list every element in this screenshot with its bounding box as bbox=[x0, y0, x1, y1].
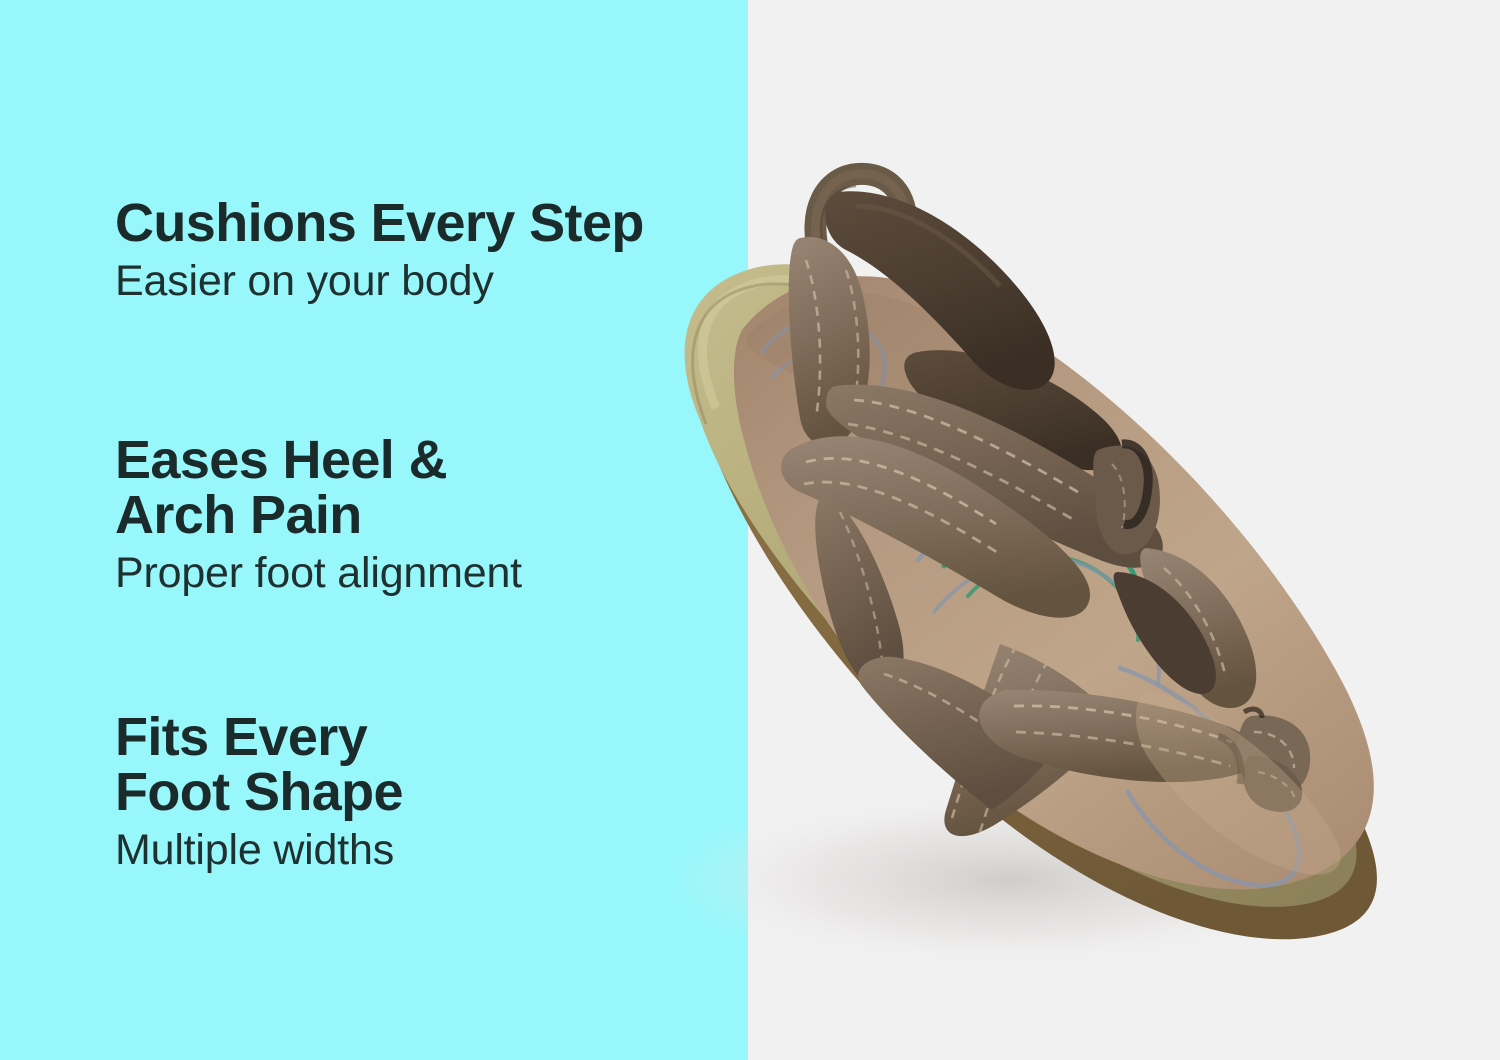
feature-title: Cushions Every Step bbox=[115, 196, 735, 251]
feature-subtitle: Proper foot alignment bbox=[115, 549, 735, 597]
feature-item-eases-heel-arch-pain: Eases Heel & Arch Pain Proper foot align… bbox=[115, 433, 735, 597]
feature-item-fits-every-foot-shape: Fits Every Foot Shape Multiple widths bbox=[115, 710, 735, 874]
feature-title: Fits Every Foot Shape bbox=[115, 710, 735, 820]
feature-title: Eases Heel & Arch Pain bbox=[115, 433, 735, 543]
feature-subtitle: Multiple widths bbox=[115, 826, 735, 874]
feature-subtitle: Easier on your body bbox=[115, 257, 735, 305]
feature-list: Cushions Every Step Easier on your body … bbox=[115, 196, 735, 874]
feature-item-cushions-every-step: Cushions Every Step Easier on your body bbox=[115, 196, 735, 305]
right-product-panel bbox=[748, 0, 1500, 1060]
promo-banner: Cushions Every Step Easier on your body … bbox=[0, 0, 1500, 1060]
